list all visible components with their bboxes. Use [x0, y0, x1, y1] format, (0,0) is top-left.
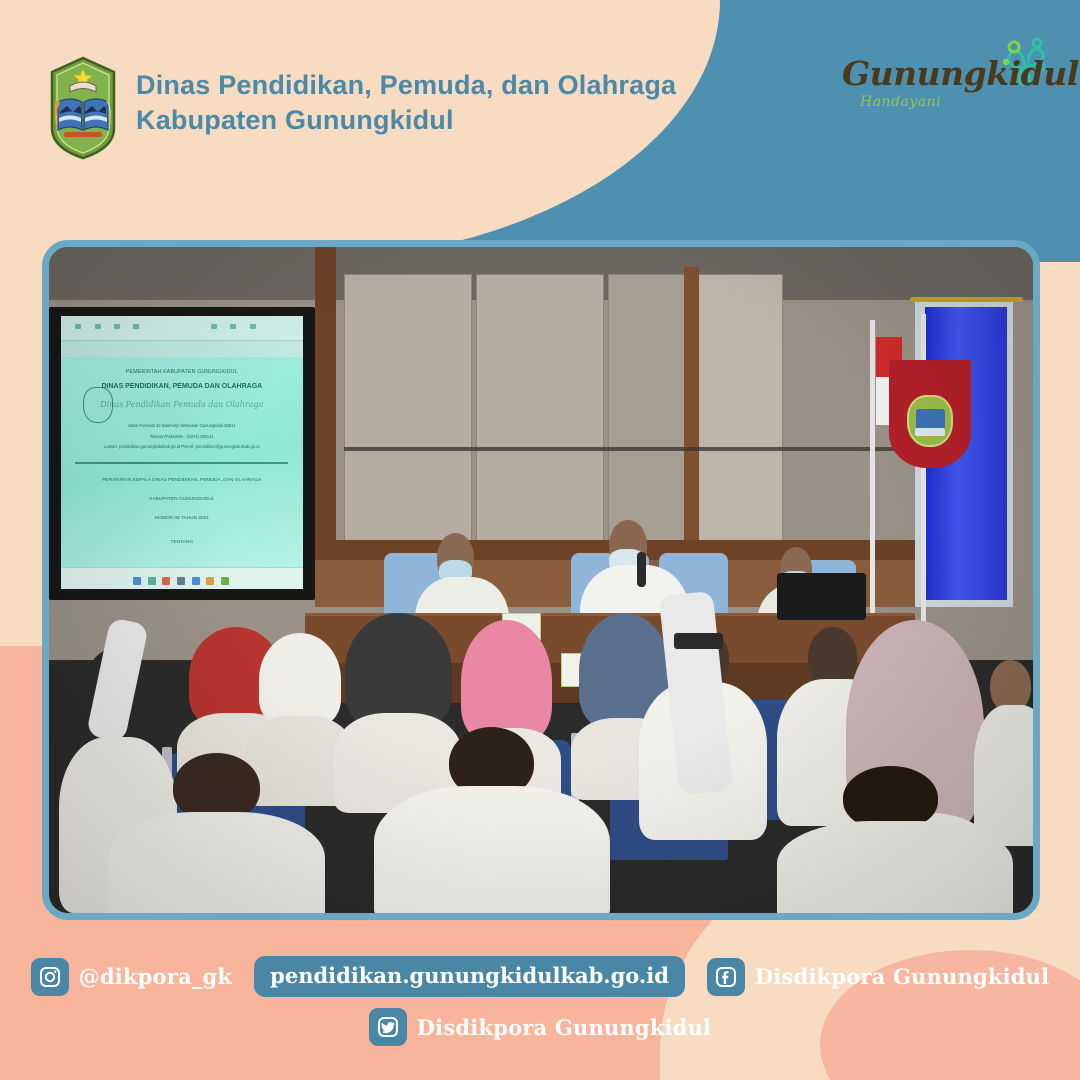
toolbar-dot [95, 324, 101, 329]
taskbar-icon [192, 577, 200, 585]
microphone-icon [637, 552, 647, 587]
toolbar-dot [114, 324, 120, 329]
wall-rail [344, 447, 895, 451]
brand-wordmark: Gunungkidul [842, 54, 1042, 93]
twitter-page-name[interactable]: Disdikpora Gunungkidul [417, 1015, 711, 1040]
footer-social-bar: @dikpora_gk pendidikan.gunungkidulkab.go… [0, 940, 1080, 1080]
brand-tagline: Handayani [860, 94, 1040, 110]
gunungkidul-brand-logo: Gunungkidul Handayani [842, 38, 1062, 128]
header: Dinas Pendidikan, Pemuda, dan Olahraga K… [0, 0, 1080, 200]
instagram-handle[interactable]: @dikpora_gk [79, 964, 233, 989]
wall-divider-beam [684, 267, 700, 560]
slide-line7: PERATURAN KEPALA DINAS PENDIDIKAN, PEMUD… [61, 478, 303, 484]
social-row-secondary: Disdikpora Gunungkidul [0, 1008, 1080, 1046]
taskbar-icon [206, 577, 214, 585]
foreground-attendee [108, 753, 324, 913]
taskbar-icon [148, 577, 156, 585]
taskbar-icon [133, 577, 141, 585]
twitter-icon[interactable] [369, 1008, 407, 1046]
photo-scene: PEMERINTAH KABUPATEN GUNUNGKIDUL DINAS P… [49, 247, 1033, 913]
website-url-pill[interactable]: pendidikan.gunungkidulkab.go.id [254, 956, 685, 997]
slide-divider [75, 462, 288, 464]
foreground-attendee [777, 766, 1013, 913]
curtain-rod [910, 297, 1023, 302]
instagram-icon[interactable] [31, 958, 69, 996]
instagram-link[interactable]: @dikpora_gk [31, 958, 233, 996]
slide-line1: PEMERINTAH KABUPATEN GUNUNGKIDUL [61, 370, 303, 376]
slide-line6: Laman: pendidikan.gunungkidulkab.go.id P… [61, 445, 303, 450]
facebook-icon[interactable] [707, 958, 745, 996]
facebook-link[interactable]: Disdikpora Gunungkidul [707, 958, 1049, 996]
toolbar-dot [211, 324, 217, 329]
gunungkidul-regency-crest-icon [44, 56, 122, 160]
smartphone [777, 573, 866, 620]
wall-panel [695, 274, 784, 580]
slide-app-ribbon [61, 341, 303, 357]
slide-line3: Dinas Pendidikan Pemuda dan Olahraga [61, 400, 303, 409]
social-post-canvas: Dinas Pendidikan, Pemuda, dan Olahraga K… [0, 0, 1080, 1080]
org-title-line2: Kabupaten Gunungkidul [136, 103, 756, 138]
taskbar-icon [221, 577, 229, 585]
twitter-link[interactable]: Disdikpora Gunungkidul [369, 1008, 711, 1046]
slide-line9: NOMOR 08 TAHUN 2021 [61, 516, 303, 522]
toolbar-dot [230, 324, 236, 329]
slide-content: PEMERINTAH KABUPATEN GUNUNGKIDUL DINAS P… [61, 360, 303, 568]
social-row-primary: @dikpora_gk pendidikan.gunungkidulkab.go… [0, 956, 1080, 997]
taskbar-icon [177, 577, 185, 585]
flag-pole [870, 320, 875, 613]
slide-line4: Jalan Pemuda 32 Baleharjo Wonosari Gunun… [61, 424, 303, 429]
ceiling-beam [315, 247, 337, 553]
slide-line5: Telepon/Faksimile : (0274) 391141 [61, 435, 303, 440]
facebook-page-name[interactable]: Disdikpora Gunungkidul [755, 964, 1049, 989]
page-title: Dinas Pendidikan, Pemuda, dan Olahraga K… [136, 68, 756, 138]
projector-screen: PEMERINTAH KABUPATEN GUNUNGKIDUL DINAS P… [61, 316, 303, 589]
pennant-crest-icon [907, 395, 953, 447]
regency-pennant [889, 360, 971, 468]
foreground-attendee [374, 727, 610, 913]
toolbar-dot [250, 324, 256, 329]
slide-line2: DINAS PENDIDIKAN, PEMUDA DAN OLAHRAGA [61, 383, 303, 391]
org-title-line1: Dinas Pendidikan, Pemuda, dan Olahraga [136, 70, 676, 100]
slide-line8: KABUPATEN GUNUNGKIDUL [61, 497, 303, 503]
toolbar-dot [133, 324, 139, 329]
toolbar-dot [75, 324, 81, 329]
event-photo: PEMERINTAH KABUPATEN GUNUNGKIDUL DINAS P… [42, 240, 1040, 920]
taskbar-icon [162, 577, 170, 585]
slide-line10: TENTANG [61, 540, 303, 546]
wristwatch-icon [674, 633, 723, 649]
